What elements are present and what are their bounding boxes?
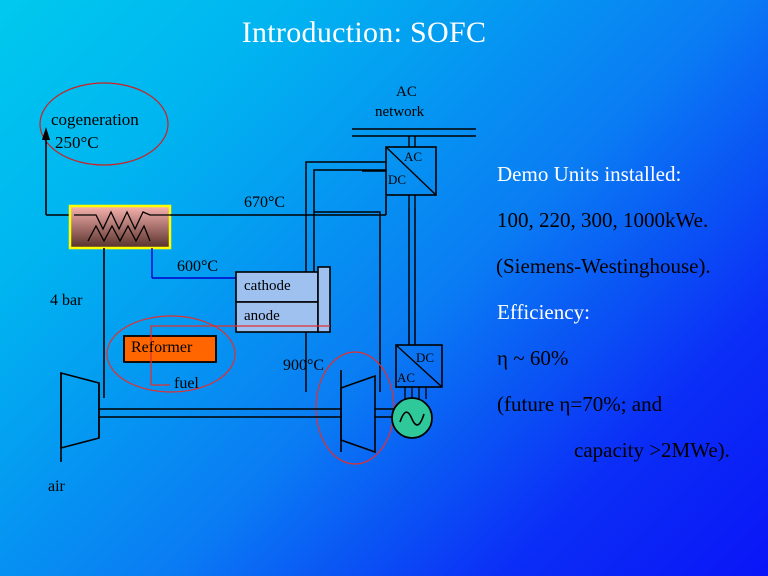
label-temperature-600: 600°C <box>177 258 218 276</box>
label-air: air <box>48 478 65 496</box>
label-fuel: fuel <box>174 375 199 393</box>
label-converter-bottom-ac: AC <box>397 370 415 386</box>
cogeneration-arrow-head <box>42 127 50 140</box>
bullet-demo-units: Demo Units installed: <box>497 162 681 187</box>
turbine-ellipse <box>316 352 394 464</box>
label-cogeneration-temperature: 250°C <box>55 133 99 153</box>
label-converter-bottom-dc: DC <box>416 350 434 366</box>
label-anode: anode <box>244 308 280 325</box>
sofc-process-diagram <box>0 0 768 576</box>
bullet-manufacturer: (Siemens-Westinghouse). <box>496 254 711 279</box>
bullet-efficiency-heading: Efficiency: <box>497 300 590 325</box>
label-ac-network-line1: AC <box>396 84 417 101</box>
bullet-efficiency-value: η ~ 60% <box>497 346 568 371</box>
bullet-future-capacity: capacity >2MWe). <box>574 438 730 463</box>
bullet-capacities: 100, 220, 300, 1000kWe. <box>497 208 708 233</box>
label-reformer: Reformer <box>131 339 192 357</box>
label-converter-top-dc: DC <box>388 172 406 188</box>
label-temperature-900: 900°C <box>283 357 324 375</box>
page-title: Introduction: SOFC <box>0 16 768 50</box>
compressor-shape <box>61 373 99 448</box>
slide-canvas: Introduction: SOFC Demo Units installed:… <box>0 0 768 576</box>
label-ac-network-line2: network <box>375 104 424 121</box>
label-cathode: cathode <box>244 278 291 295</box>
bullet-future-efficiency: (future η=70%; and <box>497 392 662 417</box>
label-pressure-4bar: 4 bar <box>50 292 82 310</box>
label-converter-top-ac: AC <box>404 149 422 165</box>
label-cogeneration: cogeneration <box>51 110 139 130</box>
label-temperature-670: 670°C <box>244 194 285 212</box>
turbine-shape <box>341 376 375 452</box>
cell-stack-side-bar <box>318 267 330 332</box>
